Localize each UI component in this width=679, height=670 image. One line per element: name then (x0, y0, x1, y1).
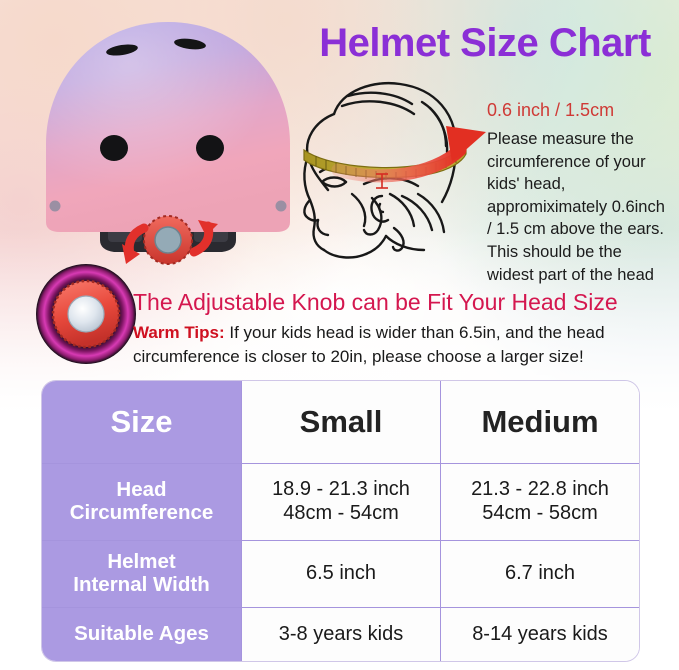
measure-note-body: Please measure the circumference of your… (487, 128, 667, 286)
table-row-suitable-ages: Suitable Ages 3-8 years kids 8-14 years … (42, 608, 639, 661)
measure-note-heading: 0.6 inch / 1.5cm (487, 100, 614, 121)
helmet-vent-rear-right (196, 135, 224, 161)
size-chart-table: Size Small Medium Head Circumference 18.… (42, 381, 639, 661)
table-row-head-circumference: Head Circumference 18.9 - 21.3 inch 48cm… (42, 464, 639, 541)
helmet-adjust-knob (144, 216, 192, 264)
cell-row-label-head-circumference: Head Circumference (42, 464, 242, 541)
helmet-rivet-left (50, 201, 61, 212)
cell-small-header: Small (242, 381, 441, 464)
helmet-icon (22, 16, 314, 266)
adjustable-knob-headline: The Adjustable Knob can be Fit Your Head… (133, 289, 618, 316)
cell-medium-head-circumference: 21.3 - 22.8 inch 54cm - 58cm (441, 464, 639, 541)
cell-row-label-internal-width: Helmet Internal Width (42, 541, 242, 608)
cell-row-label-size: Size (42, 381, 242, 464)
head-diagram-icon (290, 78, 495, 273)
table-row-internal-width: Helmet Internal Width 6.5 inch 6.7 inch (42, 541, 639, 608)
helmet-vent-rear-left (100, 135, 128, 161)
warm-tips-text: Warm Tips: If your kids head is wider th… (133, 321, 653, 369)
adjustable-knob-photo (34, 262, 139, 367)
page-title: Helmet Size Chart (300, 18, 670, 68)
cell-small-suitable-ages: 3-8 years kids (242, 608, 441, 661)
table-row-header: Size Small Medium (42, 381, 639, 464)
cell-small-internal-width: 6.5 inch (242, 541, 441, 608)
cell-small-head-circumference: 18.9 - 21.3 inch 48cm - 54cm (242, 464, 441, 541)
helmet-product-photo (22, 16, 314, 266)
cell-medium-header: Medium (441, 381, 639, 464)
measure-direction-arrow-icon (338, 126, 486, 176)
warm-tips-label: Warm Tips: (133, 323, 225, 342)
adjustable-knob-icon (34, 262, 139, 367)
cell-medium-internal-width: 6.7 inch (441, 541, 639, 608)
cell-medium-suitable-ages: 8-14 years kids (441, 608, 639, 661)
helmet-rivet-right (276, 201, 287, 212)
head-measure-diagram (290, 78, 495, 273)
cell-row-label-suitable-ages: Suitable Ages (42, 608, 242, 661)
